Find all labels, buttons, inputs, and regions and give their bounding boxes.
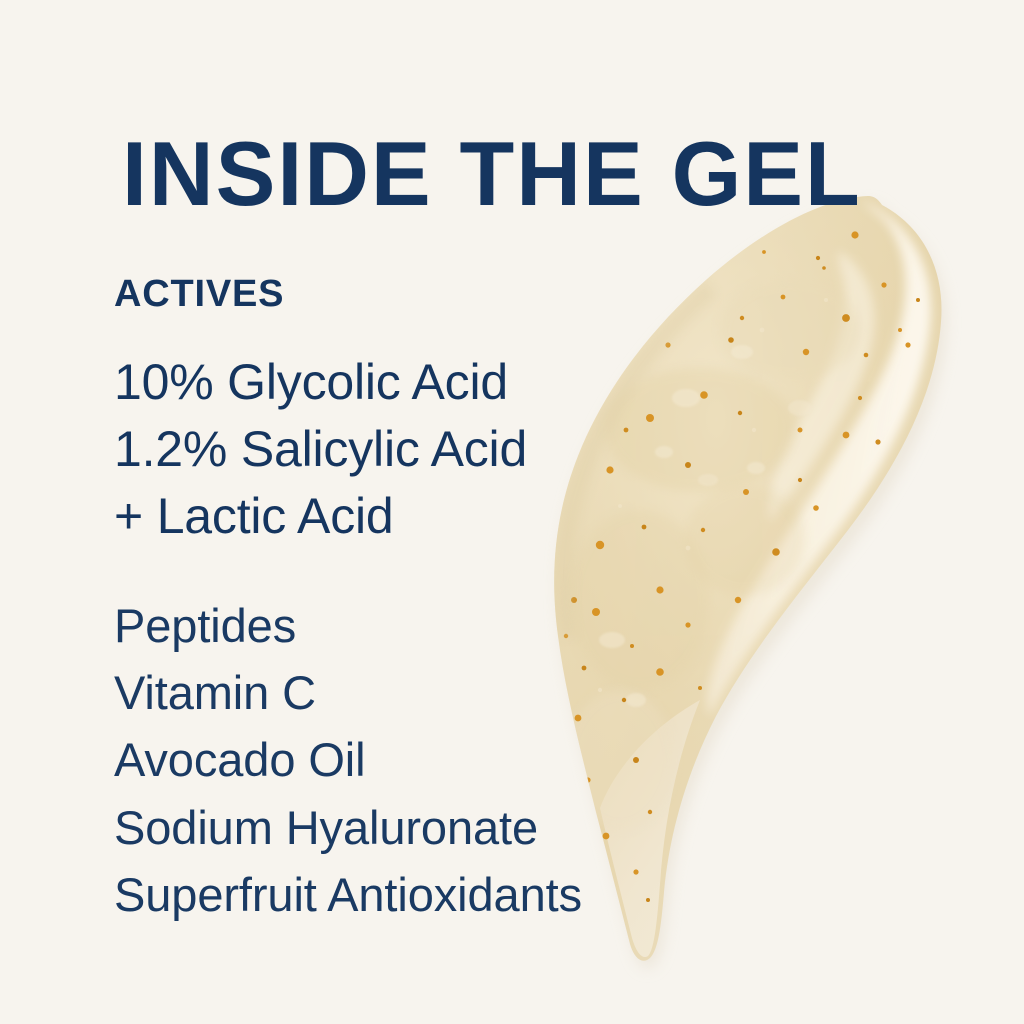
ingredient-list-item: Avocado Oil xyxy=(114,726,754,793)
ingredients-section: Peptides Vitamin C Avocado Oil Sodium Hy… xyxy=(114,592,754,928)
actives-heading: ACTIVES xyxy=(114,272,634,317)
ingredient-list-item: Superfruit Antioxidants xyxy=(114,861,754,928)
actives-section: ACTIVES 10% Glycolic Acid 1.2% Salicylic… xyxy=(114,272,634,550)
ingredient-list-item: Sodium Hyaluronate xyxy=(114,794,754,861)
actives-list-item: + Lactic Acid xyxy=(114,483,634,550)
actives-list-item: 10% Glycolic Acid xyxy=(114,349,634,416)
ingredient-list-item: Peptides xyxy=(114,592,754,659)
ingredient-list-item: Vitamin C xyxy=(114,659,754,726)
product-ingredient-infographic: INSIDE THE GEL ACTIVES 10% Glycolic Acid… xyxy=(0,0,1024,1024)
actives-list-item: 1.2% Salicylic Acid xyxy=(114,416,634,483)
page-title: INSIDE THE GEL xyxy=(122,129,862,220)
ingredients-list: Peptides Vitamin C Avocado Oil Sodium Hy… xyxy=(114,592,754,928)
actives-list: 10% Glycolic Acid 1.2% Salicylic Acid + … xyxy=(114,349,634,550)
